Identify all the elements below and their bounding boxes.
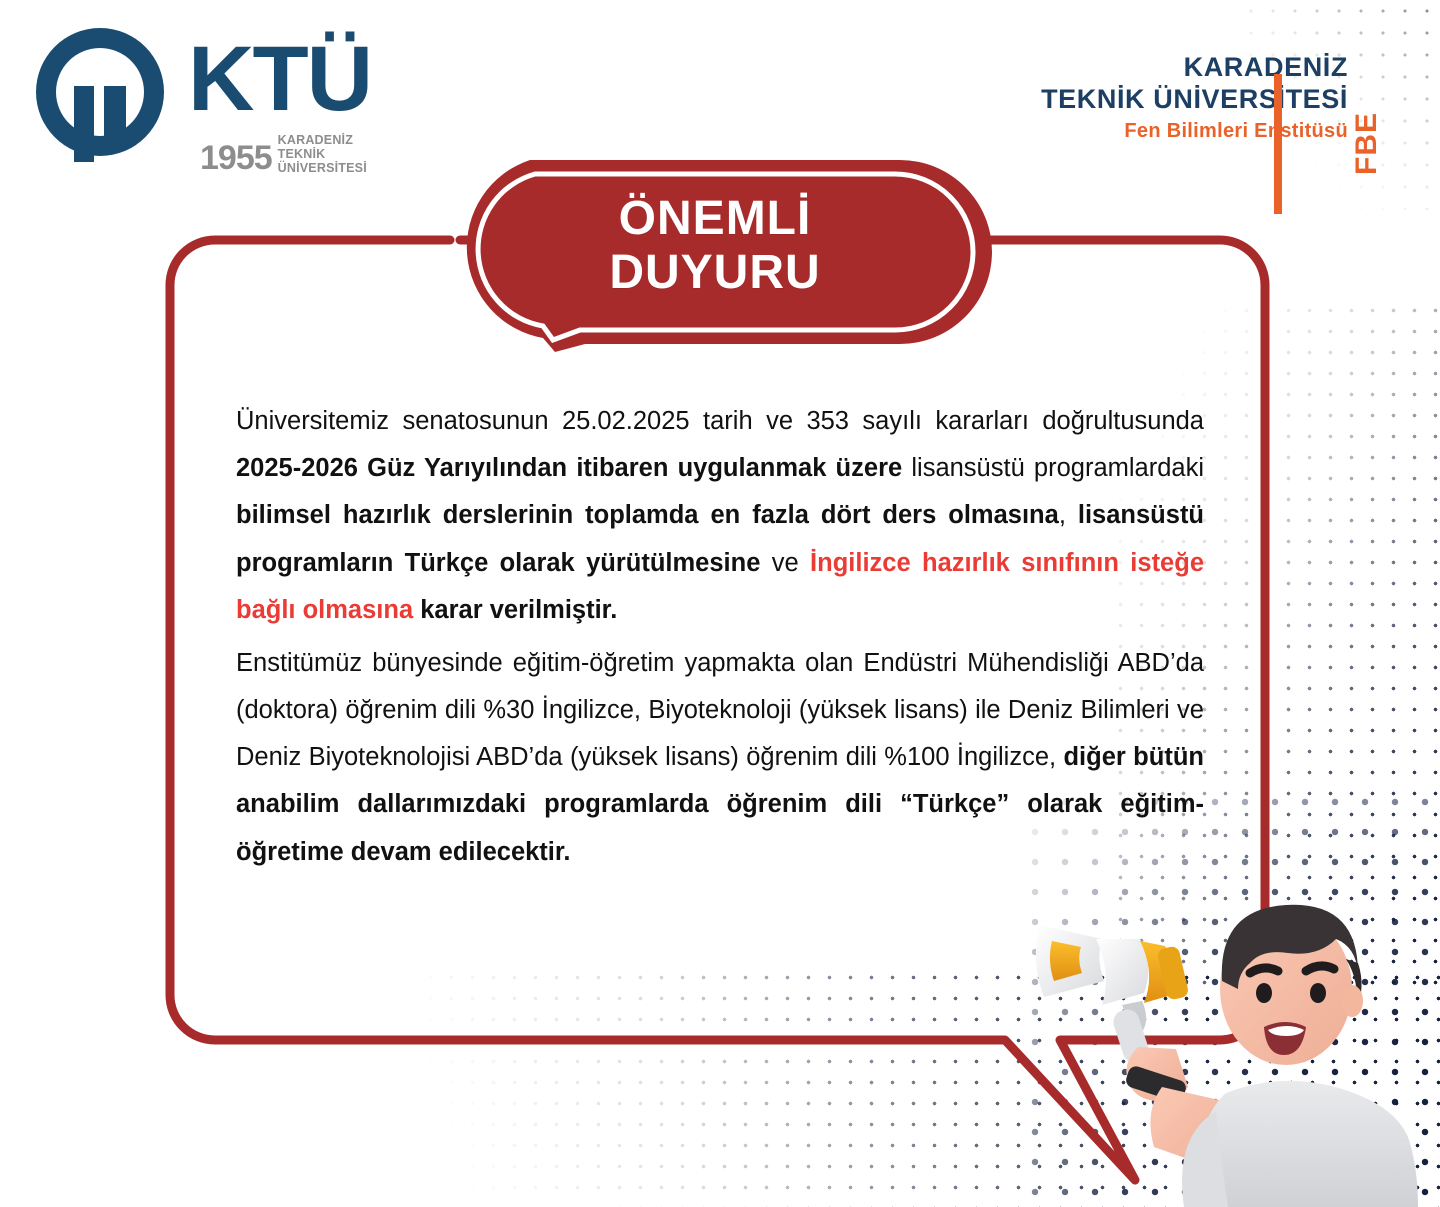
announcer-character-illustration [1030,897,1430,1207]
ktu-wordmark: KTÜ [188,40,371,119]
banner-line-onemli: ÖNEMLİ [435,192,995,246]
header-line-teknik-universitesi: TEKNİK ÜNİVERSİTESİ [1041,84,1348,116]
banner-text: ÖNEMLİ DUYURU [435,192,995,300]
ktu-emblem-icon [18,22,183,162]
banner-line-duyuru: DUYURU [435,246,995,300]
p1-seg9-bold: karar verilmiştir. [413,596,617,624]
p1-seg4-bold: bilimsel hazırlık derslerinin toplamda e… [236,501,1059,529]
ktu-sub-lines: KARADENİZ TEKNİK ÜNİVERSİTESİ [278,133,398,175]
p1-seg7: ve [760,549,810,577]
character-head [1220,905,1363,1065]
p2-seg1: Enstitümüz bünyesinde eğitim-öğretim yap… [236,649,1204,771]
p1-seg1: Üniversitemiz senatosunun 25.02.2025 tar… [236,407,1204,435]
ktu-letters: KTÜ [188,40,371,119]
megaphone-icon [1036,925,1190,1066]
ktu-founding-year: 1955 [200,141,272,175]
fbe-abbrev-label: FBE [1350,112,1384,175]
announcement-paragraph-2: Enstitümüz bünyesinde eğitim-öğretim yap… [236,640,1204,876]
announcement-paragraph-1: Üniversitemiz senatosunun 25.02.2025 tar… [236,398,1204,634]
p1-seg3: lisansüstü programlardaki [902,454,1204,482]
institute-header: KARADENİZ TEKNİK ÜNİVERSİTESİ Fen Biliml… [1041,52,1348,146]
announcer-character [1030,897,1430,1207]
announcement-body: Üniversitemiz senatosunun 25.02.2025 tar… [236,398,1204,876]
orange-divider-bar [1274,74,1282,214]
ktu-logo: KTÜ 1955 KARADENİZ TEKNİK ÜNİVERSİTESİ [18,18,398,163]
p1-seg2-bold: 2025-2026 Güz Yarıyılından itibaren uygu… [236,454,902,482]
p1-seg5: , [1059,501,1078,529]
ktu-sub-line-2: TEKNİK ÜNİVERSİTESİ [278,147,398,175]
ktu-sub-line-1: KARADENİZ [278,133,398,147]
ktu-logo-subtitle: 1955 KARADENİZ TEKNİK ÜNİVERSİTESİ [200,133,398,175]
header-line-karadeniz: KARADENİZ [1041,52,1348,84]
header-line-fen-bilimleri-enstitusu: Fen Bilimleri Enstitüsü [1041,116,1348,146]
announcement-poster: KTÜ 1955 KARADENİZ TEKNİK ÜNİVERSİTESİ K… [0,0,1440,1207]
important-announcement-banner: ÖNEMLİ DUYURU [435,152,995,352]
